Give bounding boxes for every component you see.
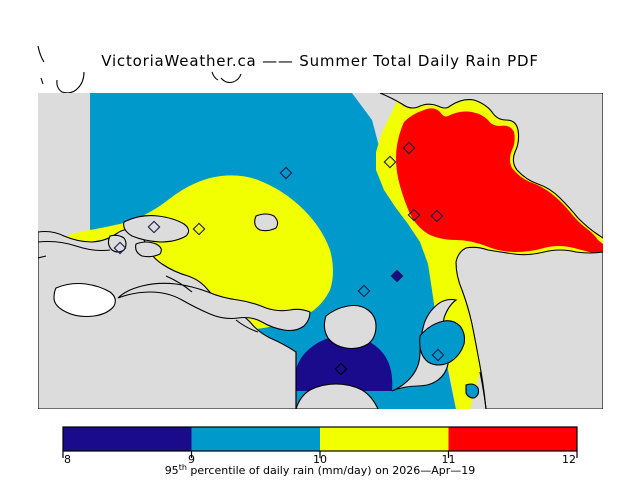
colorbar-caption: 95th percentile of daily rain (mm/day) o… — [165, 463, 476, 477]
colorbar-segment-9-10 — [192, 427, 321, 451]
colorbar-caption-value: 95 — [165, 464, 179, 477]
colorbar-tick-label: 8 — [64, 453, 71, 466]
colorbar: 8 9 10 11 12 95th percentile of daily ra… — [0, 0, 640, 480]
colorbar-segment-11-12 — [449, 427, 578, 451]
colorbar-caption-main: percentile of daily rain (mm/day) on 202… — [187, 464, 475, 477]
colorbar-tick-label: 12 — [562, 453, 576, 466]
screenshot-root: VictoriaWeather.ca —— Summer Total Daily… — [0, 0, 640, 480]
colorbar-segments — [63, 427, 577, 451]
colorbar-segment-8-9 — [63, 427, 192, 451]
colorbar-caption-superscript: th — [179, 463, 187, 472]
colorbar-segment-10-11 — [320, 427, 449, 451]
